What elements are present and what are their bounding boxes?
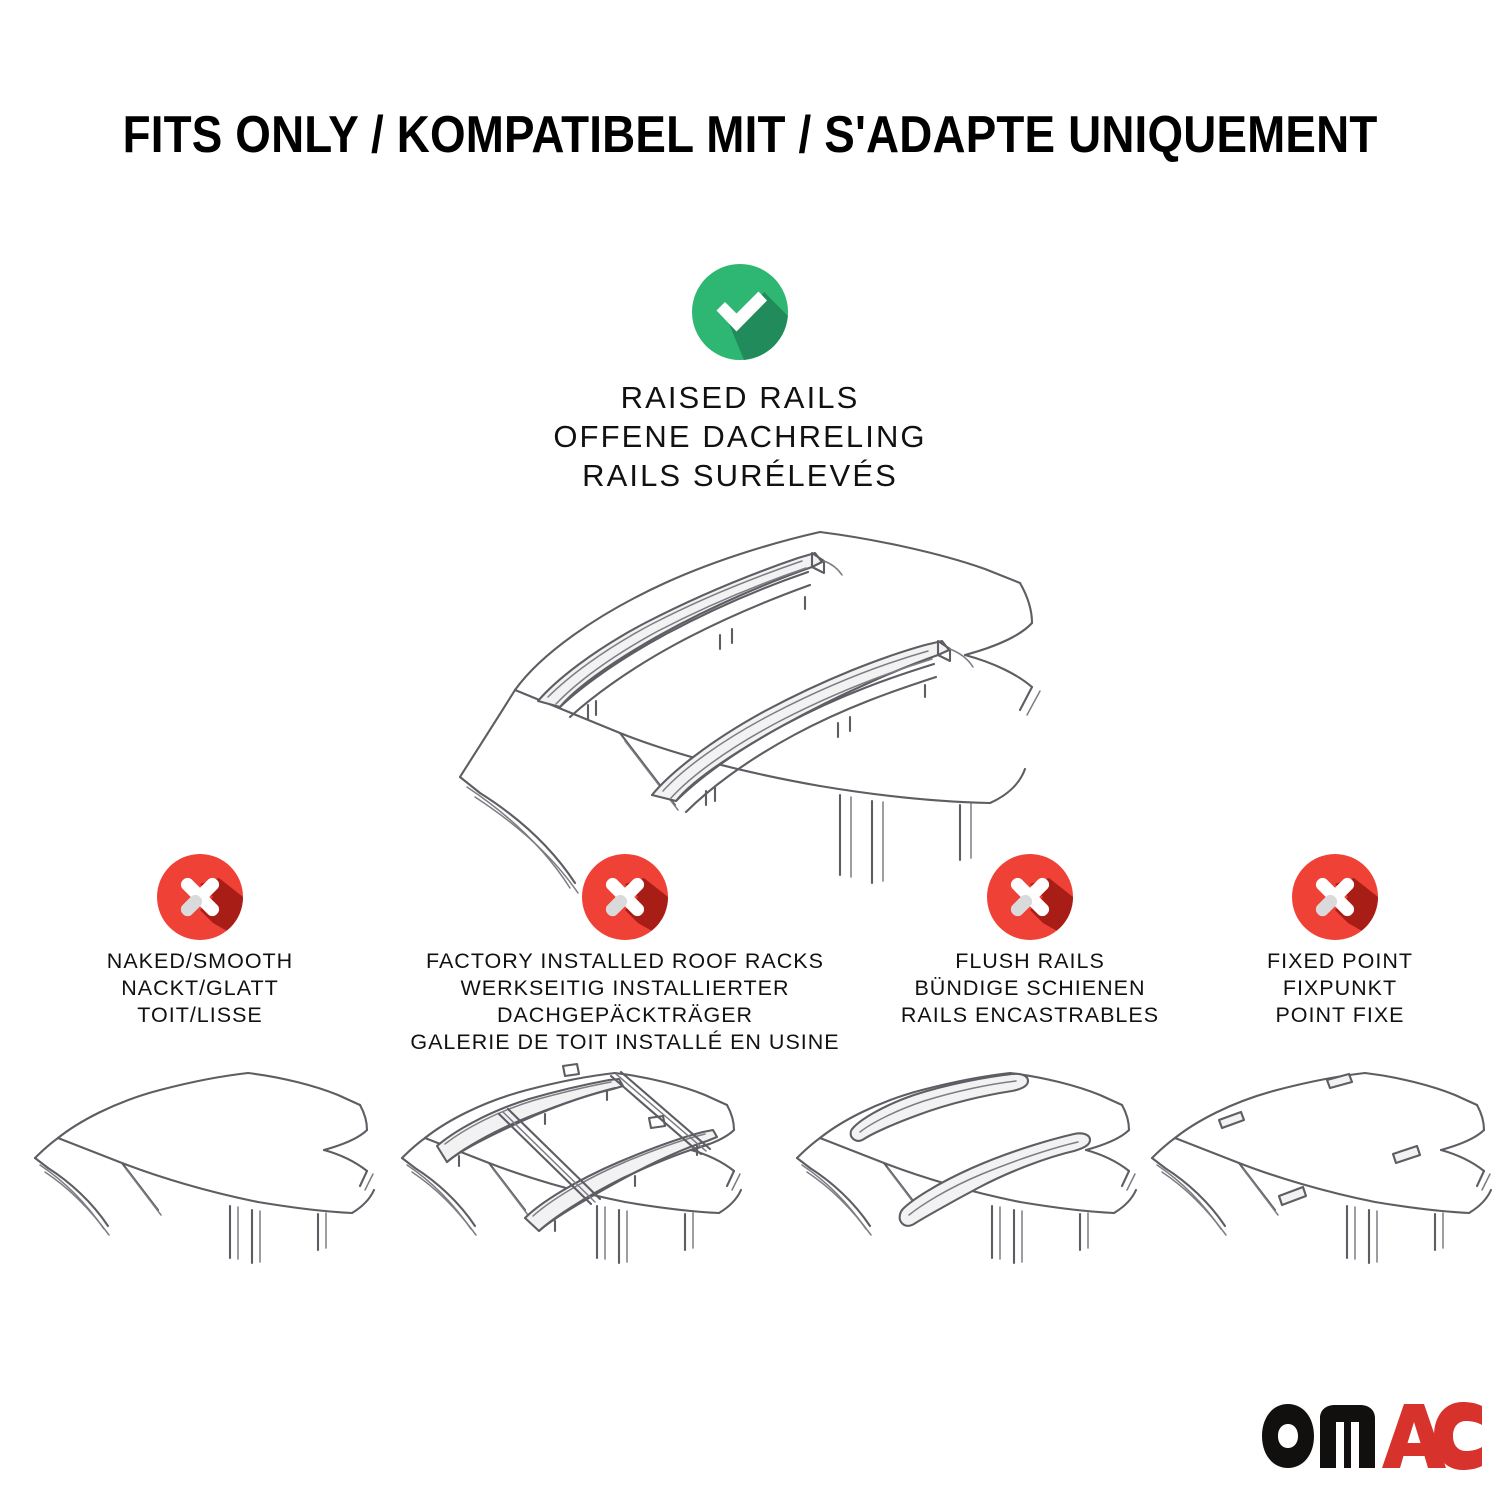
cross-badge-icon-naked-smooth <box>157 854 243 940</box>
cross-mark-icon <box>987 854 1073 940</box>
cross-mark-icon <box>157 854 243 940</box>
incompatible-label-line-3: RAILS ENCASTRABLES <box>860 1002 1200 1029</box>
cross-badge-icon-flush-rails <box>987 854 1073 940</box>
car-roof-raised-rails-illustration <box>420 505 1100 835</box>
compatible-label-line-2: OFFENE DACHRELING <box>390 417 1090 456</box>
incompatible-label-line-2: FIXPUNKT <box>1195 975 1485 1002</box>
page-title-text: FITS ONLY / KOMPATIBEL MIT / S'ADAPTE UN… <box>123 106 1378 164</box>
omac-logo <box>1256 1396 1482 1472</box>
logo-letter-o <box>1262 1404 1314 1468</box>
check-mark-icon <box>692 264 788 360</box>
cross-mark-icon <box>582 854 668 940</box>
incompatible-label-line-1: FIXED POINT <box>1195 948 1485 975</box>
incompatible-label-fixed-point: FIXED POINT FIXPUNKT POINT FIXE <box>1195 948 1485 1029</box>
page-title: FITS ONLY / KOMPATIBEL MIT / S'ADAPTE UN… <box>0 106 1500 164</box>
compatibility-infographic: FITS ONLY / KOMPATIBEL MIT / S'ADAPTE UN… <box>0 0 1500 1500</box>
incompatible-label-line-3: DACHGEPÄCKTRÄGER <box>385 1002 865 1029</box>
compatible-label-line-3: RAILS SURÉLEVÉS <box>390 456 1090 495</box>
incompatible-label-line-2: WERKSEITIG INSTALLIERTER <box>385 975 865 1002</box>
cross-badge-icon-factory-racks <box>582 854 668 940</box>
incompatible-label-naked-smooth: NAKED/SMOOTH NACKT/GLATT TOIT/LISSE <box>30 948 370 1029</box>
compatible-label-line-1: RAISED RAILS <box>390 378 1090 417</box>
check-badge-icon <box>692 264 788 360</box>
incompatible-label-line-3: TOIT/LISSE <box>30 1002 370 1029</box>
logo-letter-c <box>1434 1402 1482 1470</box>
incompatible-label-factory-racks: FACTORY INSTALLED ROOF RACKS WERKSEITIG … <box>385 948 865 1056</box>
cross-mark-icon <box>1292 854 1378 940</box>
incompatible-label-line-1: FLUSH RAILS <box>860 948 1200 975</box>
incompatible-label-line-2: NACKT/GLATT <box>30 975 370 1002</box>
incompatible-label-line-4: GALERIE DE TOIT INSTALLÉ EN USINE <box>385 1029 865 1056</box>
compatible-label: RAISED RAILS OFFENE DACHRELING RAILS SUR… <box>390 378 1090 495</box>
incompatible-label-line-1: FACTORY INSTALLED ROOF RACKS <box>385 948 865 975</box>
car-roof-factory-roof-racks-illustration <box>395 1058 755 1288</box>
incompatible-label-line-1: NAKED/SMOOTH <box>30 948 370 975</box>
incompatible-label-flush-rails: FLUSH RAILS BÜNDIGE SCHIENEN RAILS ENCAS… <box>860 948 1200 1029</box>
cross-badge-icon-fixed-point <box>1292 854 1378 940</box>
car-roof-naked-smooth-illustration <box>30 1058 390 1288</box>
car-roof-fixed-point-illustration <box>1145 1058 1500 1288</box>
incompatible-label-line-3: POINT FIXE <box>1195 1002 1485 1029</box>
incompatible-label-line-2: BÜNDIGE SCHIENEN <box>860 975 1200 1002</box>
logo-letter-m <box>1320 1405 1375 1468</box>
car-roof-flush-rails-illustration <box>790 1058 1150 1288</box>
